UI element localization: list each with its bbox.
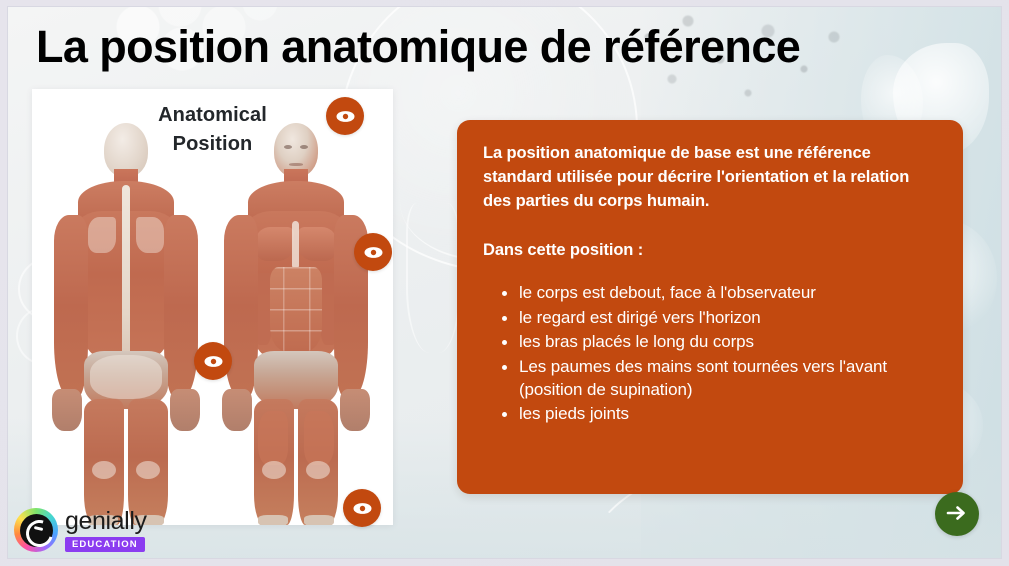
list-item: le corps est debout, face à l'observateu… — [519, 282, 937, 305]
list-item: les bras placés le long du corps — [519, 331, 937, 354]
eye-icon — [364, 246, 383, 259]
figure-spine — [122, 185, 130, 369]
genially-text-block: genially EDUCATION — [65, 509, 147, 552]
genially-education-badge: EDUCATION — [65, 537, 145, 552]
figure-foot-right — [304, 515, 334, 525]
eye-icon — [353, 502, 372, 515]
figure-hand-right — [340, 389, 370, 431]
figure-knee-left — [262, 461, 286, 479]
figure-mouth — [289, 163, 303, 166]
figure-hand-left — [52, 389, 82, 431]
genially-logo[interactable]: genially EDUCATION — [14, 508, 147, 552]
slide-frame: La position anatomique de référence Anat… — [0, 0, 1009, 566]
arrow-right-icon — [946, 503, 968, 526]
page-title: La position anatomique de référence — [36, 21, 966, 72]
figure-abdominals — [270, 267, 322, 351]
figure-quadriceps-right — [304, 411, 334, 465]
next-slide-button[interactable] — [935, 492, 979, 536]
panel-bullet-list: le corps est debout, face à l'observateu… — [483, 282, 937, 426]
figure-hand-left — [222, 389, 252, 431]
figure-scapula-right — [136, 217, 164, 253]
slide-canvas: La position anatomique de référence Anat… — [7, 6, 1002, 559]
eye-icon — [336, 110, 355, 123]
hotspot-marker-3[interactable] — [194, 342, 232, 380]
image-caption-line2: Position — [32, 130, 393, 159]
genially-wordmark: genially — [65, 509, 147, 534]
figure-knee-right — [306, 461, 330, 479]
figure-scapula-left — [88, 217, 116, 253]
figure-arm-right — [164, 215, 198, 397]
panel-intro-text: La position anatomique de base est une r… — [483, 142, 937, 213]
figure-quadriceps-left — [258, 411, 288, 465]
figure-gluteal — [90, 355, 162, 399]
figure-sternum — [292, 221, 299, 269]
figure-hand-right — [170, 389, 200, 431]
content-panel: La position anatomique de base est une r… — [457, 120, 963, 494]
hotspot-marker-4[interactable] — [343, 489, 381, 527]
figure-knee-left — [92, 461, 116, 479]
figure-pectoral-right — [298, 227, 336, 261]
list-item: Les paumes des mains sont tournées vers … — [519, 356, 937, 401]
hotspot-marker-1[interactable] — [326, 97, 364, 135]
anatomy-image-card: Anatomical Position — [32, 89, 393, 525]
list-item: le regard est dirigé vers l'horizon — [519, 307, 937, 330]
figure-knee-right — [136, 461, 160, 479]
genially-logo-icon — [14, 508, 58, 552]
anatomy-figure-posterior — [46, 123, 206, 523]
figure-foot-left — [258, 515, 288, 525]
panel-subheading: Dans cette position : — [483, 241, 937, 260]
hotspot-marker-2[interactable] — [354, 233, 392, 271]
anatomy-figure-anterior — [216, 123, 376, 523]
figure-pectoral-left — [256, 227, 294, 261]
cervical-spine-icon — [406, 203, 460, 353]
list-item: les pieds joints — [519, 403, 937, 426]
figure-arm-left — [54, 215, 88, 397]
eye-icon — [204, 355, 223, 368]
